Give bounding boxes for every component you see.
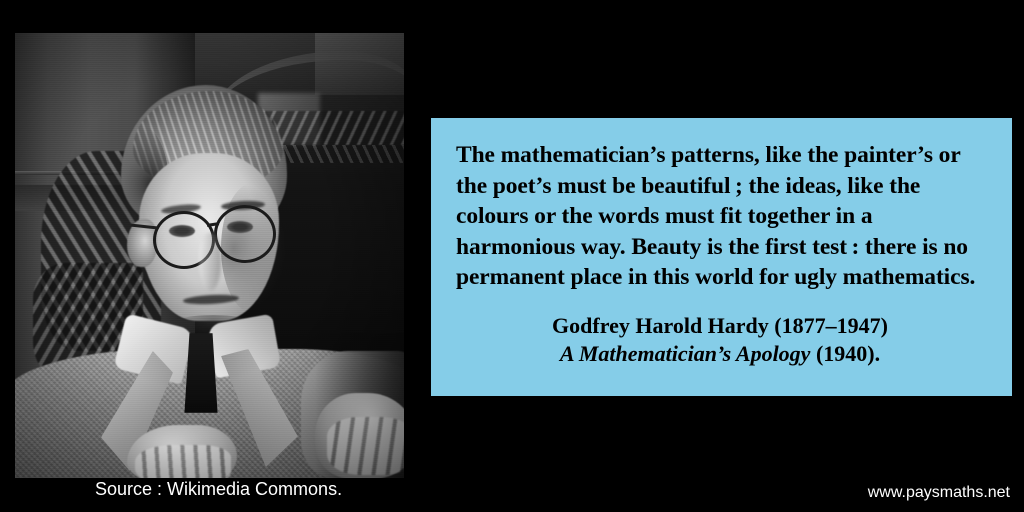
website-url: www.paysmaths.net [868, 484, 1010, 502]
attribution-work-title: A Mathematician’s Apology [560, 341, 811, 366]
source-caption: Source : Wikimedia Commons. [95, 479, 342, 500]
quote-panel: The mathematician’s patterns, like the p… [431, 118, 1012, 396]
attribution-work-year: (1940). [810, 341, 880, 366]
portrait-photo [15, 33, 404, 478]
attribution-author: Godfrey Harold Hardy (1877–1947) [431, 312, 1009, 340]
quote-text: The mathematician’s patterns, like the p… [456, 140, 990, 293]
attribution-block: Godfrey Harold Hardy (1877–1947) A Mathe… [431, 312, 1009, 368]
slide-canvas: The mathematician’s patterns, like the p… [0, 0, 1024, 512]
attribution-work: A Mathematician’s Apology (1940). [431, 340, 1009, 368]
photo-vignette [15, 33, 404, 478]
